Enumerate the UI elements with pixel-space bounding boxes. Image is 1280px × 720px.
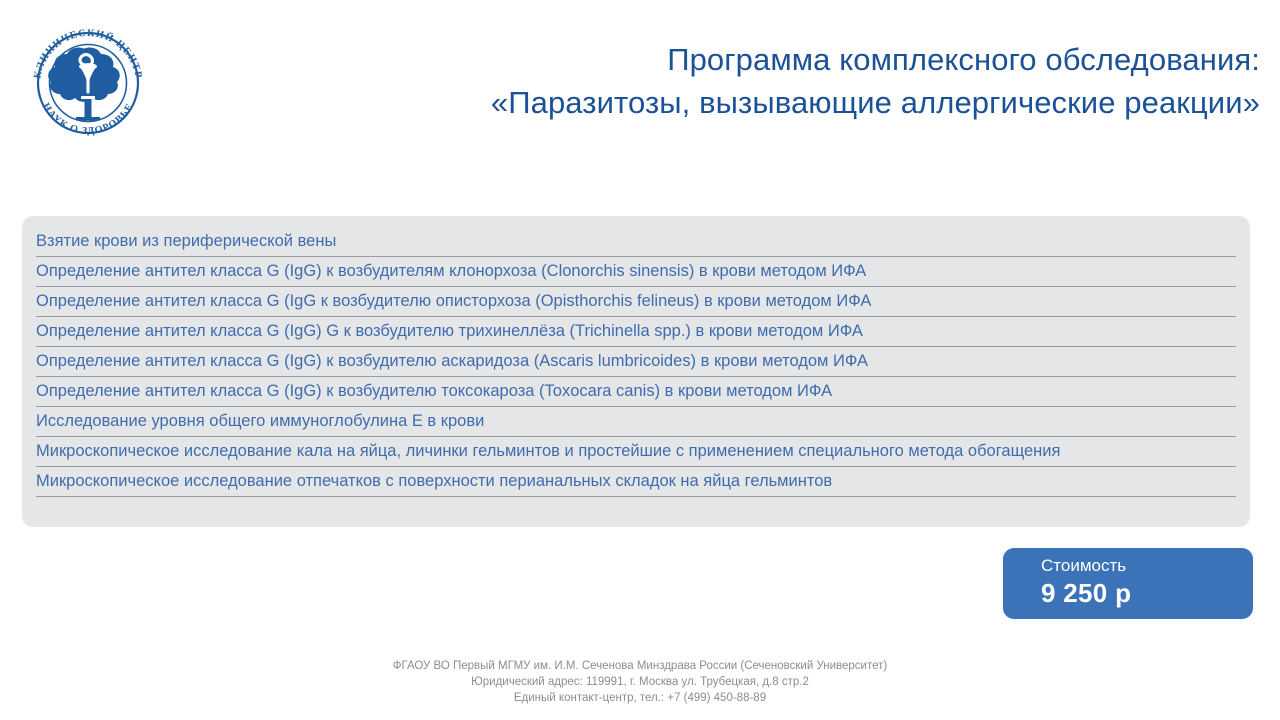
price-value: 9 250 р	[1041, 577, 1253, 609]
page-title-line-2: «Паразитозы, вызывающие аллергические ре…	[300, 81, 1260, 124]
page-title-line-1: Программа комплексного обследования:	[300, 38, 1260, 81]
list-item: Определение антител класса G (IgG) G к в…	[36, 318, 1236, 347]
price-label: Стоимость	[1041, 555, 1253, 577]
footer-contact: Единый контакт-центр, тел.: +7 (499) 450…	[0, 690, 1280, 706]
page-title: Программа комплексного обследования: «Па…	[300, 38, 1260, 124]
list-item: Микроскопическое исследование отпечатков…	[36, 468, 1236, 497]
clinic-emblem-icon: КЛИНИЧЕСКИЙ ЦЕНТР НАУК О ЗДОРОВЬЕ	[18, 10, 158, 152]
list-item: Определение антител класса G (IgG) к воз…	[36, 258, 1236, 287]
footer: ФГАОУ ВО Первый МГМУ им. И.М. Сеченова М…	[0, 658, 1280, 706]
price-badge: Стоимость 9 250 р	[1003, 548, 1253, 619]
services-list: Взятие крови из периферической вены Опре…	[36, 228, 1236, 497]
list-item: Взятие крови из периферической вены	[36, 228, 1236, 257]
list-item: Определение антител класса G (IgG к возб…	[36, 288, 1236, 317]
footer-organization: ФГАОУ ВО Первый МГМУ им. И.М. Сеченова М…	[0, 658, 1280, 674]
list-item: Определение антител класса G (IgG) к воз…	[36, 378, 1236, 407]
list-item: Определение антител класса G (IgG) к воз…	[36, 348, 1236, 377]
slide-root: КЛИНИЧЕСКИЙ ЦЕНТР НАУК О ЗДОРОВЬЕ Програ…	[0, 0, 1280, 720]
list-item: Микроскопическое исследование кала на яй…	[36, 438, 1236, 467]
footer-address: Юридический адрес: 119991, г. Москва ул.…	[0, 674, 1280, 690]
services-panel: Взятие крови из периферической вены Опре…	[22, 216, 1250, 527]
list-item: Исследование уровня общего иммуноглобули…	[36, 408, 1236, 437]
